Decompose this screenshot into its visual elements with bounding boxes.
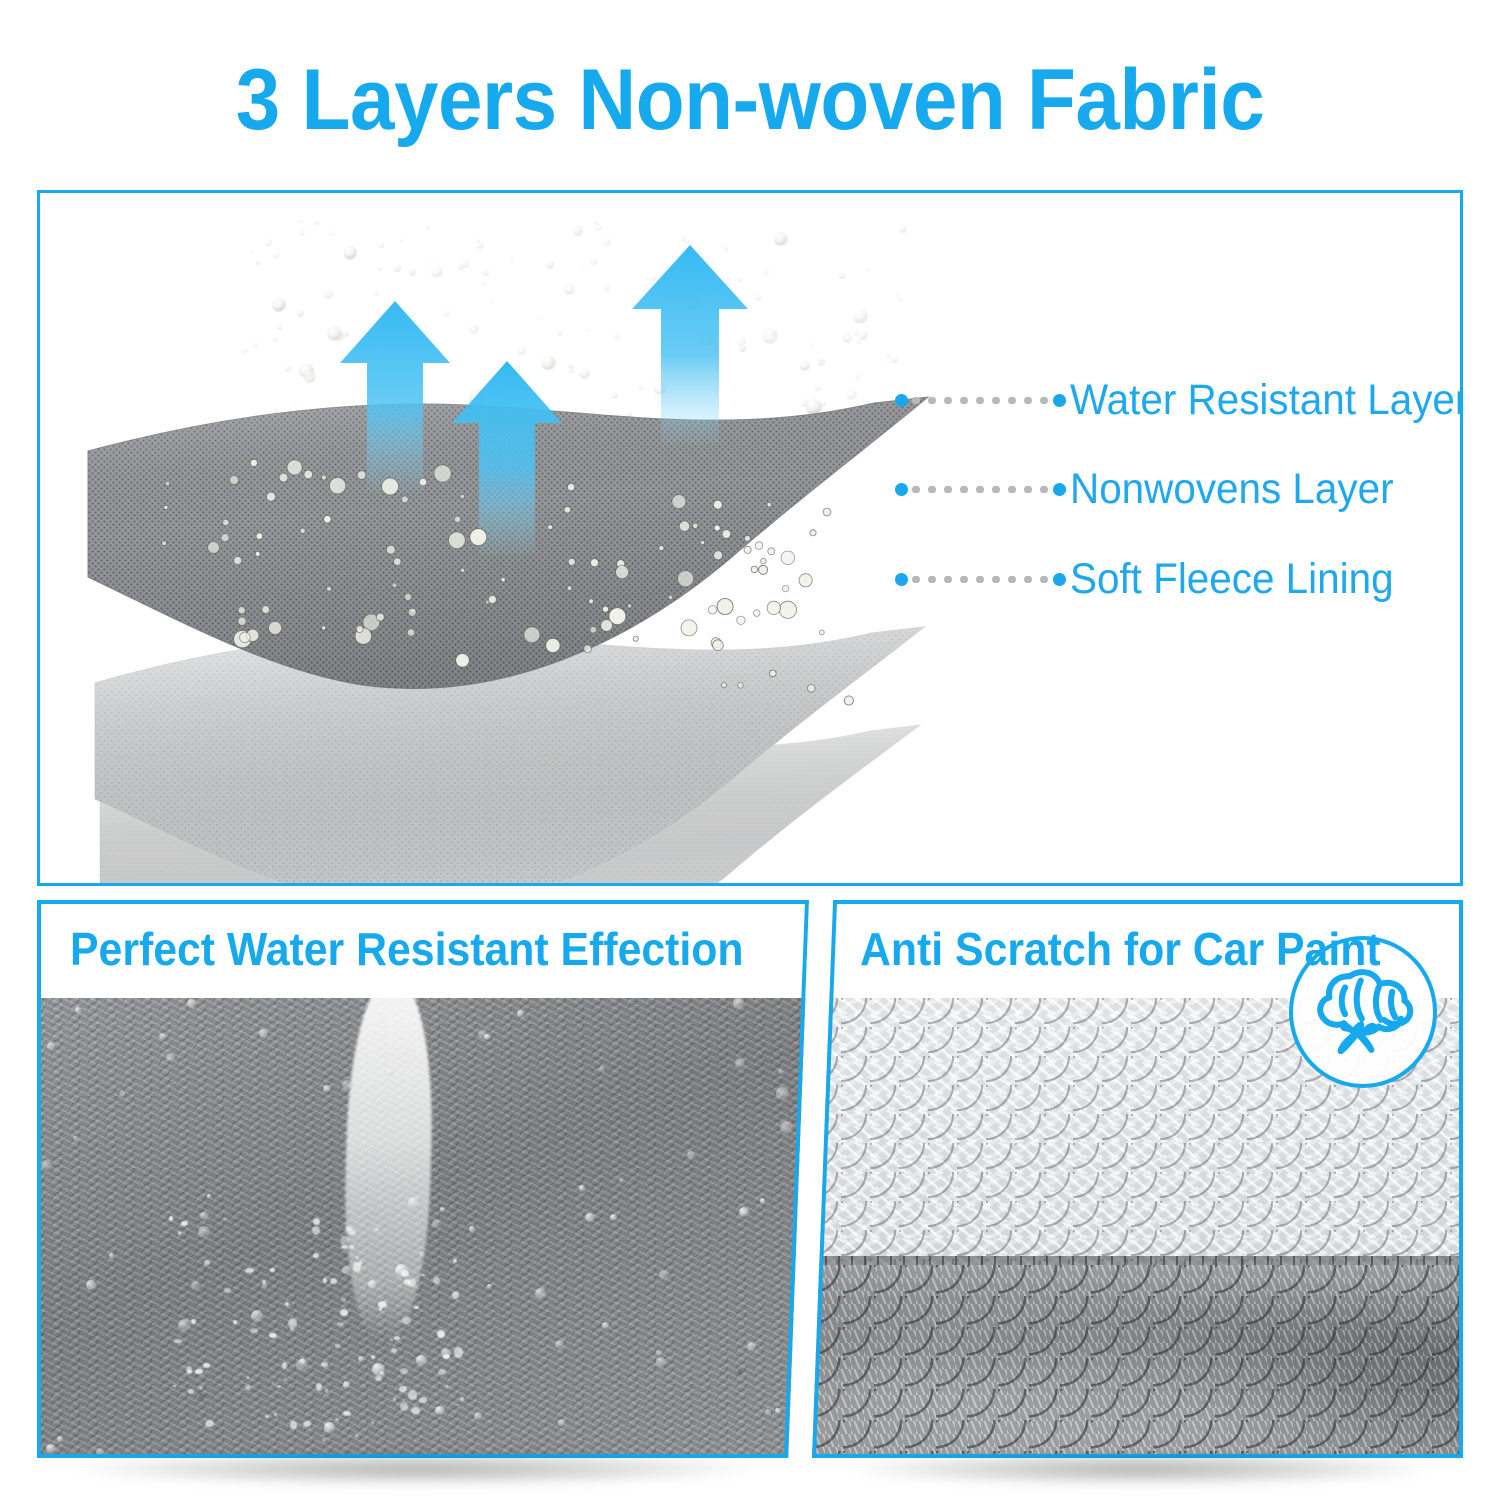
water-splash-particle: [300, 1358, 304, 1363]
surface-droplet: [693, 523, 698, 528]
surface-droplet: [382, 478, 399, 495]
photo-water-droplet: [432, 1219, 441, 1228]
surface-droplet: [779, 601, 796, 618]
callout-water-resistant: Water Resistant Layer: [895, 376, 1463, 424]
photo-water-droplet: [747, 1342, 756, 1351]
surface-droplet: [501, 578, 505, 582]
water-splash-particle: [454, 1347, 463, 1358]
water-splash-particle: [400, 1402, 408, 1410]
water-splash-particle: [265, 1415, 269, 1417]
surface-droplet: [721, 683, 726, 688]
surface-droplet: [546, 638, 560, 652]
surface-droplet: [392, 583, 397, 588]
surface-droplet: [807, 684, 815, 692]
photo-water-droplet: [794, 1438, 799, 1443]
leader-dashes: [908, 576, 1053, 583]
surface-droplet: [230, 476, 239, 485]
surface-droplet: [755, 542, 763, 550]
surface-droplet: [768, 548, 775, 555]
water-splash-particle: [342, 1266, 350, 1273]
water-splash-particle: [378, 1301, 387, 1309]
photo-water-droplet: [765, 1409, 771, 1415]
surface-droplet: [269, 621, 282, 634]
photo-water-droplet: [558, 1419, 566, 1427]
water-splash-particle: [335, 1344, 340, 1348]
water-splash-particle: [330, 1278, 336, 1283]
surface-droplet: [449, 532, 466, 549]
water-splash-particle: [245, 1268, 254, 1273]
surface-droplet: [823, 508, 831, 516]
surface-droplet: [678, 571, 694, 587]
water-splash-particle: [303, 1421, 311, 1427]
photo-water-droplet: [408, 1197, 419, 1208]
surface-droplet: [679, 521, 690, 532]
water-splash-particle: [456, 1404, 459, 1405]
photo-water-droplet: [159, 1033, 166, 1040]
surface-droplet: [238, 607, 245, 614]
surface-droplet: [404, 593, 411, 600]
photo-water-resistance-test: [37, 998, 809, 1458]
callout-label-nonwovens: Nonwovens Layer: [1070, 465, 1394, 513]
surface-droplet: [627, 604, 631, 608]
callout-leader-line: [908, 396, 1053, 404]
water-splash-particle: [394, 1336, 400, 1340]
water-splash-particle: [445, 1385, 449, 1388]
surface-droplet: [722, 530, 731, 539]
photo-water-droplet: [73, 1136, 78, 1141]
surface-droplet: [327, 586, 332, 591]
photo-water-droplet: [735, 1058, 745, 1068]
surface-droplet: [681, 620, 697, 636]
water-splash-particle: [285, 1302, 289, 1305]
surface-droplet: [714, 551, 723, 560]
surface-droplet: [799, 574, 812, 587]
water-splash-particle: [321, 1362, 328, 1367]
surface-droplet: [300, 528, 305, 533]
surface-droplet: [394, 558, 402, 566]
surface-droplet: [602, 606, 608, 612]
page-title: 3 Layers Non-woven Fabric: [53, 52, 1448, 148]
photo-water-droplet: [656, 1357, 666, 1367]
surface-droplet: [279, 473, 288, 482]
surface-droplet: [165, 481, 169, 485]
surface-droplet: [713, 640, 724, 651]
photo-water-droplet: [262, 1283, 268, 1289]
surface-droplet: [407, 629, 415, 637]
water-splash-particle: [313, 1253, 319, 1258]
photo-water-droplet: [86, 1280, 95, 1289]
surface-droplet: [782, 585, 788, 591]
panel-caption-water-resistant: Perfect Water Resistant Effection: [37, 900, 809, 998]
surface-droplet: [708, 606, 717, 615]
water-splash-particle: [371, 1355, 374, 1359]
photo-water-droplet: [435, 1406, 444, 1415]
water-splash-particle: [312, 1226, 320, 1235]
panel-shadow-right: [845, 1452, 1435, 1486]
water-splash-particle: [313, 1218, 320, 1225]
photo-water-droplet: [733, 998, 744, 1009]
surface-droplet: [524, 627, 540, 643]
surface-droplet: [434, 465, 451, 482]
panel-water-resistant-effection: Perfect Water Resistant Effection: [37, 900, 809, 1458]
surface-droplet: [659, 546, 664, 551]
water-splash-particle: [411, 1407, 419, 1414]
surface-droplet: [568, 558, 575, 565]
water-splash-particle: [269, 1333, 277, 1338]
surface-droplet: [584, 645, 592, 653]
surface-droplet: [419, 478, 427, 486]
photo-water-droplet: [610, 1214, 617, 1221]
surface-droplet: [767, 601, 780, 614]
surface-droplet: [164, 505, 168, 509]
surface-droplet: [250, 459, 257, 466]
surface-droplet: [819, 630, 824, 635]
photo-water-droplet: [57, 1436, 63, 1442]
surface-droplet: [781, 551, 795, 565]
surface-droplet: [470, 529, 487, 546]
surface-droplet: [590, 626, 597, 633]
fabric-layer-stack: [40, 193, 1460, 886]
surface-droplet: [564, 506, 571, 513]
surface-droplet: [769, 670, 776, 677]
water-splash-particle: [205, 1420, 214, 1427]
surface-droplet: [256, 533, 263, 540]
photo-water-droplet: [343, 1381, 350, 1388]
surface-droplet: [356, 626, 363, 633]
surface-droplet: [701, 541, 705, 545]
surface-droplet: [238, 617, 246, 625]
water-splash-particle: [284, 1378, 287, 1381]
water-splash-particle: [419, 1397, 427, 1403]
surface-droplet: [223, 519, 230, 526]
surface-droplet: [567, 586, 572, 591]
water-splash-particle: [276, 1385, 281, 1388]
surface-droplet: [460, 494, 464, 498]
surface-droplet: [488, 595, 496, 603]
water-splash-particle: [401, 1270, 409, 1277]
photo-water-droplet: [778, 1069, 784, 1075]
surface-droplet: [454, 516, 461, 523]
surface-droplet: [767, 503, 771, 507]
photo-water-droplet: [555, 1340, 564, 1349]
photo-water-droplet: [517, 1010, 524, 1017]
callout-anchor-dot: [895, 483, 908, 496]
callout-label-soft-fleece: Soft Fleece Lining: [1070, 555, 1394, 603]
surface-droplet: [668, 595, 672, 599]
water-splash-particle: [438, 1369, 446, 1376]
surface-droplet: [208, 542, 220, 554]
water-splash-particle: [181, 1221, 188, 1225]
surface-droplet: [548, 525, 553, 530]
surface-droplet: [262, 606, 270, 614]
surface-droplet: [408, 608, 416, 616]
surface-droplet: [456, 654, 470, 668]
water-splash-particle: [186, 1366, 192, 1373]
surface-droplet: [761, 558, 766, 563]
photo-water-droplet: [780, 1121, 793, 1134]
photo-water-droplet: [323, 1085, 330, 1092]
photo-water-droplet: [440, 1207, 445, 1212]
hem-fabric-texture: [812, 1265, 1463, 1458]
photo-water-droplet: [259, 1029, 267, 1037]
surface-droplet: [844, 696, 853, 705]
callout-leader-line: [908, 485, 1053, 493]
photo-water-droplet: [419, 1251, 425, 1257]
water-splash-particle: [437, 1330, 445, 1338]
layer-diagram-panel: Water Resistant Layer Nonwovens Layer So…: [37, 190, 1463, 886]
water-splash-particle: [391, 1348, 397, 1353]
photo-water-droplet: [656, 1350, 662, 1356]
surface-droplet: [751, 566, 758, 573]
panel-caption-anti-scratch: Anti Scratch for Car Paint: [812, 900, 1463, 998]
water-splash-particle: [375, 1375, 381, 1381]
leader-dashes: [908, 397, 1053, 404]
surface-droplet: [255, 551, 260, 556]
surface-droplet: [737, 616, 745, 624]
water-splash-particle: [433, 1277, 440, 1284]
surface-droplet: [616, 566, 629, 579]
panel-anti-scratch: Anti Scratch for Car Paint: [812, 900, 1463, 1458]
callout-nonwovens: Nonwovens Layer: [895, 465, 1414, 513]
water-splash-particle: [178, 1231, 182, 1234]
callout-soft-fleece: Soft Fleece Lining: [895, 555, 1414, 603]
photo-water-droplet: [585, 1213, 595, 1223]
surface-droplet: [460, 568, 464, 572]
photo-water-droplet: [191, 1281, 200, 1290]
callout-end-dot: [1053, 394, 1066, 407]
surface-droplet: [287, 460, 302, 475]
surface-droplet: [322, 626, 326, 630]
water-splash-particle: [400, 1368, 408, 1374]
surface-droplet: [714, 525, 720, 531]
photo-water-droplet: [324, 1422, 335, 1433]
surface-droplet: [738, 682, 744, 688]
surface-droplet: [567, 483, 575, 491]
water-splash-particle: [191, 1319, 196, 1324]
surface-droplet: [717, 599, 733, 615]
surface-droplet: [589, 599, 594, 604]
surface-droplet: [590, 559, 598, 567]
infographic-page: 3 Layers Non-woven Fabric: [0, 0, 1500, 1500]
water-splash-particle: [245, 1385, 251, 1390]
photo-water-droplet: [739, 1207, 749, 1217]
photo-water-droplet: [484, 1034, 489, 1039]
water-splash-particle: [233, 1320, 236, 1323]
water-splash-particle: [250, 1328, 258, 1333]
surface-droplet: [601, 620, 613, 632]
surface-droplet: [162, 541, 167, 546]
photo-water-droplet: [200, 1212, 208, 1220]
photo-water-droplet: [47, 1042, 55, 1050]
surface-droplet: [401, 496, 408, 503]
surface-droplet: [386, 545, 395, 554]
surface-droplet: [810, 530, 816, 536]
surface-droplet: [329, 478, 345, 494]
surface-droplet: [266, 492, 275, 501]
water-splash-particle: [408, 1390, 417, 1400]
water-splash-particle: [414, 1306, 418, 1309]
surface-droplet: [234, 556, 242, 564]
water-splash-particle: [173, 1385, 175, 1387]
water-splash-particle: [195, 1369, 203, 1373]
photo-water-droplet: [474, 1412, 482, 1420]
surface-droplet: [357, 471, 366, 480]
photo-water-droplet: [251, 1310, 263, 1322]
water-splash-particle: [262, 1280, 266, 1284]
moisture-arrow-right: [632, 245, 748, 445]
surface-droplet: [304, 470, 313, 479]
leader-dashes: [908, 486, 1053, 493]
callout-label-water-resistant: Water Resistant Layer: [1070, 376, 1463, 424]
callout-leader-line: [908, 575, 1053, 583]
water-splash-particle: [337, 1322, 344, 1325]
surface-droplet: [221, 534, 229, 542]
surface-droplet: [753, 610, 760, 617]
panel-shadow-left: [70, 1452, 760, 1486]
surface-droplet: [744, 546, 751, 553]
water-splash-particle: [316, 1383, 322, 1391]
water-splash-particle: [323, 1278, 327, 1282]
surface-droplet: [324, 515, 332, 523]
water-splash-particle: [203, 1363, 211, 1368]
surface-droplet: [633, 636, 638, 641]
surface-droplet: [759, 565, 768, 574]
water-splash-particle: [188, 1389, 194, 1394]
water-splash-particle: [288, 1318, 297, 1328]
surface-droplet: [376, 613, 384, 621]
surface-droplet: [240, 632, 251, 643]
photo-water-droplet: [775, 1408, 781, 1414]
callout-end-dot: [1053, 483, 1066, 496]
surface-droplet: [713, 500, 722, 509]
surface-droplet: [744, 535, 750, 541]
surface-droplet: [672, 495, 686, 509]
surface-droplet: [321, 475, 326, 480]
water-splash-particle: [204, 1260, 210, 1265]
photo-water-droplet: [41, 1160, 51, 1170]
water-splash-particle: [443, 1354, 449, 1359]
callout-anchor-dot: [895, 573, 908, 586]
water-splash-particle: [335, 1418, 339, 1422]
photo-water-droplet: [760, 1198, 765, 1203]
callout-anchor-dot: [895, 394, 908, 407]
water-splash-particle: [460, 1397, 464, 1401]
callout-end-dot: [1053, 573, 1066, 586]
